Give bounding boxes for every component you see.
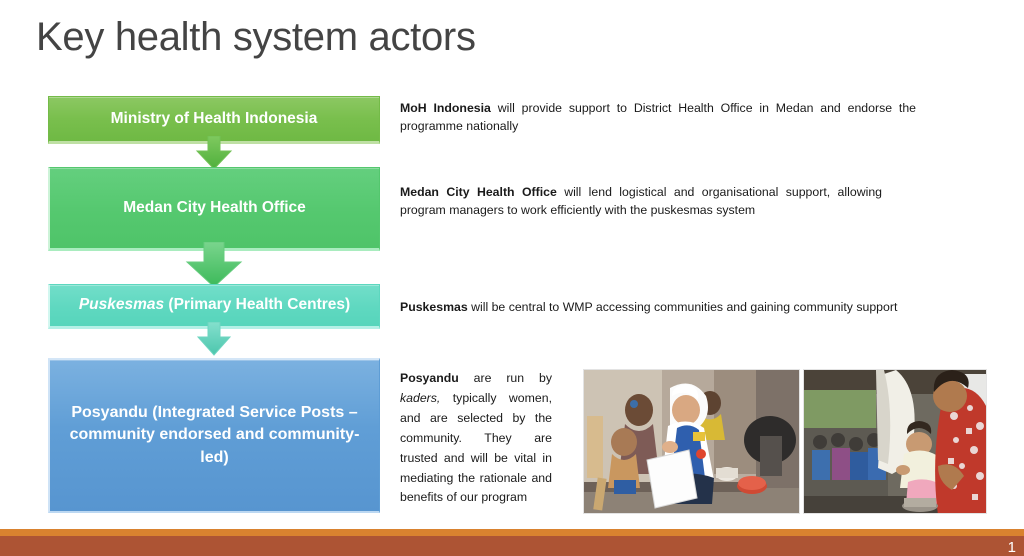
- note-puskesmas: Puskesmas will be central to WMP accessi…: [400, 299, 920, 317]
- flow-box-label: Ministry of Health Indonesia: [111, 109, 318, 130]
- footer-bar-bottom: 1: [0, 536, 1024, 556]
- note-ministry-of-health: MoH Indonesia will provide support to Di…: [400, 100, 916, 136]
- note-body-2: typically women, and are selected by the…: [400, 391, 552, 505]
- flow-box-label: Puskesmas (Primary Health Centres): [79, 295, 350, 316]
- flow-box-posyandu[interactable]: Posyandu (Integrated Service Posts – com…: [48, 358, 380, 513]
- photo-baby-in-sling-scale: [803, 369, 987, 514]
- photo-health-worker-weighing: [583, 369, 800, 514]
- note-lead: MoH Indonesia: [400, 101, 491, 115]
- note-lead: Medan City Health Office: [400, 185, 557, 199]
- flow-box-label-italic: Puskesmas: [79, 296, 164, 313]
- note-lead: Puskesmas: [400, 300, 468, 314]
- flow-box-label: Medan City Health Office: [123, 198, 306, 219]
- photo-gallery: [583, 369, 987, 514]
- note-body-1: are run by: [459, 371, 552, 385]
- note-medan-city-health-office: Medan City Health Office will lend logis…: [400, 184, 882, 220]
- flow-box-puskesmas[interactable]: Puskesmas (Primary Health Centres): [48, 284, 380, 329]
- note-lead: Posyandu: [400, 371, 459, 385]
- note-italic-kaders: kaders,: [400, 391, 440, 405]
- note-body: will be central to WMP accessing communi…: [468, 300, 898, 314]
- flow-box-label: Posyandu (Integrated Service Posts – com…: [62, 402, 367, 469]
- page-title: Key health system actors: [36, 14, 476, 60]
- flow-box-medan-city-health-office[interactable]: Medan City Health Office: [48, 167, 380, 251]
- page-number: 1: [1008, 540, 1016, 555]
- note-posyandu: Posyandu are run by kaders, typically wo…: [400, 369, 552, 508]
- flow-box-label-rest: (Primary Health Centres): [164, 296, 350, 313]
- slide: Key health system actors Ministry of Hea…: [0, 0, 1024, 556]
- flow-box-ministry-of-health[interactable]: Ministry of Health Indonesia: [48, 96, 380, 144]
- footer-bar-top: [0, 529, 1024, 536]
